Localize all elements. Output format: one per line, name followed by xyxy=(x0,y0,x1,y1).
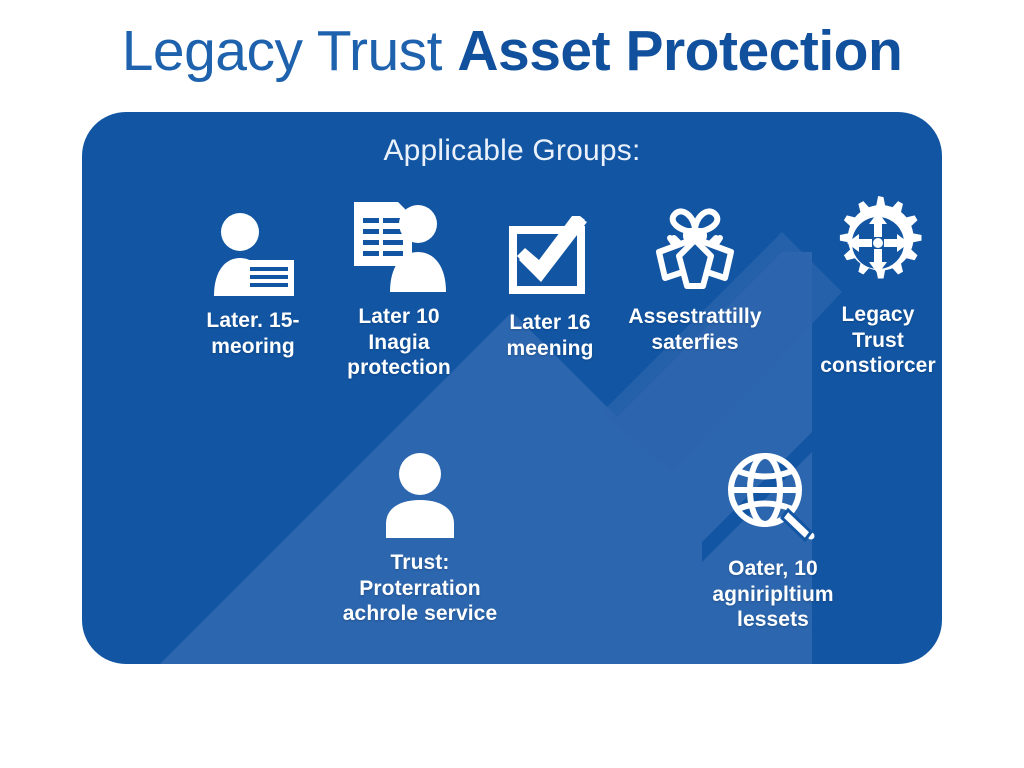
applicable-groups-card: Applicable Groups: Later. 15-meoring xyxy=(82,112,942,664)
group-item-5[interactable]: LegacyTrustconstiorcer xyxy=(798,194,942,379)
document-people-icon xyxy=(318,196,480,292)
group-item-2[interactable]: Later 10Inagiaprotection xyxy=(318,196,480,381)
group-item-1-label: Later. 15-meoring xyxy=(176,308,330,359)
globe-magnifier-icon xyxy=(654,448,892,544)
scales-balance-icon xyxy=(600,196,790,292)
group-item-7-label: Oater, 10agniripltiumlessets xyxy=(654,556,892,633)
group-item-6[interactable]: Trust:Proterrationachrole service xyxy=(264,442,576,627)
page-title: Legacy Trust Asset Protection xyxy=(0,22,1024,82)
person-document-icon xyxy=(176,200,330,296)
group-item-6-label: Trust:Proterrationachrole service xyxy=(264,550,576,627)
group-item-4[interactable]: Assestrattillysaterfies xyxy=(600,196,790,355)
group-item-5-label: LegacyTrustconstiorcer xyxy=(798,302,942,379)
group-item-1[interactable]: Later. 15-meoring xyxy=(176,200,330,359)
person-icon xyxy=(264,442,576,538)
gear-arrows-icon xyxy=(798,194,942,290)
group-item-2-label: Later 10Inagiaprotection xyxy=(318,304,480,381)
card-heading: Applicable Groups: xyxy=(82,134,942,168)
group-item-4-label: Assestrattillysaterfies xyxy=(600,304,790,355)
group-item-7[interactable]: Oater, 10agniripltiumlessets xyxy=(654,448,892,633)
page-title-bold: Asset Protection xyxy=(457,19,902,83)
page-title-light: Legacy Trust xyxy=(122,19,458,83)
